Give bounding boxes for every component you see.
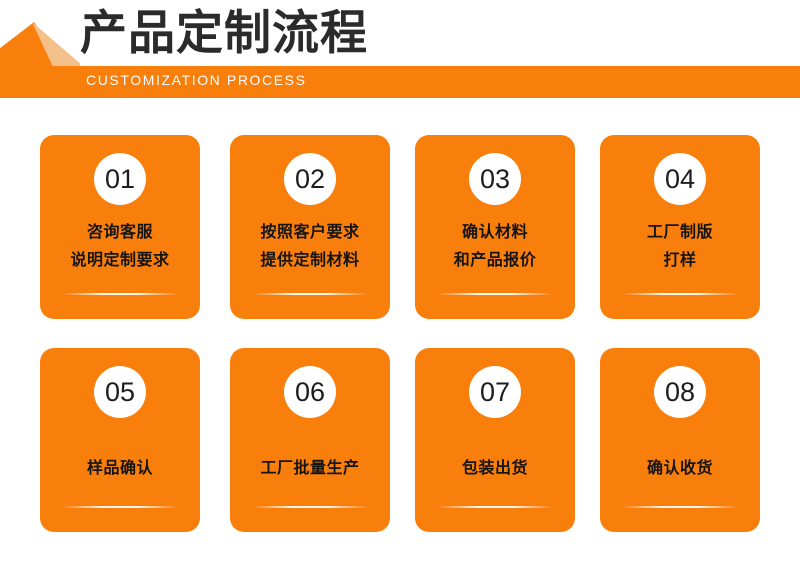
step-description: 按照客户要求 提供定制材料 xyxy=(230,219,390,275)
step-number-circle: 04 xyxy=(654,153,706,205)
step-description-line1: 样品确认 xyxy=(40,455,200,483)
step-divider xyxy=(437,506,553,508)
step-description-line2: 说明定制要求 xyxy=(40,247,200,275)
step-number-circle: 05 xyxy=(94,366,146,418)
step-description-line1: 工厂批量生产 xyxy=(230,455,390,483)
step-number: 04 xyxy=(665,166,695,193)
process-step-card: 06 工厂批量生产 xyxy=(230,348,390,532)
step-description-line1: 包装出货 xyxy=(415,455,575,483)
process-step-card: 05 样品确认 xyxy=(40,348,200,532)
step-description-line1: 确认材料 xyxy=(415,219,575,247)
process-step-card: 08 确认收货 xyxy=(600,348,760,532)
step-description-line1: 工厂制版 xyxy=(600,219,760,247)
step-number: 08 xyxy=(665,379,695,406)
step-divider xyxy=(252,506,368,508)
step-divider xyxy=(437,293,553,295)
step-description-line2: 和产品报价 xyxy=(415,247,575,275)
process-step-card: 02 按照客户要求 提供定制材料 xyxy=(230,135,390,319)
step-description: 确认收货 xyxy=(600,455,760,483)
process-step-card: 01 咨询客服 说明定制要求 xyxy=(40,135,200,319)
step-divider xyxy=(622,506,738,508)
step-number-circle: 07 xyxy=(469,366,521,418)
process-step-card: 07 包装出货 xyxy=(415,348,575,532)
step-number: 07 xyxy=(480,379,510,406)
step-description: 包装出货 xyxy=(415,455,575,483)
process-steps-row-top: 01 咨询客服 说明定制要求 02 按照客户要求 提供定制材料 03 确认材 xyxy=(0,135,800,319)
step-description-line2: 提供定制材料 xyxy=(230,247,390,275)
step-number: 06 xyxy=(295,379,325,406)
step-divider xyxy=(62,293,178,295)
step-divider xyxy=(622,293,738,295)
step-description: 咨询客服 说明定制要求 xyxy=(40,219,200,275)
step-number-circle: 03 xyxy=(469,153,521,205)
step-description-line2: 打样 xyxy=(600,247,760,275)
step-number-circle: 08 xyxy=(654,366,706,418)
process-step-card: 04 工厂制版 打样 xyxy=(600,135,760,319)
step-divider xyxy=(252,293,368,295)
page-subtitle: CUSTOMIZATION PROCESS xyxy=(86,72,307,88)
step-number: 02 xyxy=(295,166,325,193)
step-number: 03 xyxy=(480,166,510,193)
page-title: 产品定制流程 xyxy=(80,2,368,64)
process-step-card: 03 确认材料 和产品报价 xyxy=(415,135,575,319)
process-steps-grid: 01 咨询客服 说明定制要求 02 按照客户要求 提供定制材料 03 确认材 xyxy=(0,100,800,572)
step-description-line1: 咨询客服 xyxy=(40,219,200,247)
step-number: 01 xyxy=(105,166,135,193)
process-steps-row-bottom: 05 样品确认 06 工厂批量生产 07 包装出货 xyxy=(0,348,800,532)
step-number-circle: 01 xyxy=(94,153,146,205)
page-header: 产品定制流程 CUSTOMIZATION PROCESS xyxy=(0,0,800,100)
step-description-line1: 确认收货 xyxy=(600,455,760,483)
step-description: 确认材料 和产品报价 xyxy=(415,219,575,275)
step-description: 工厂批量生产 xyxy=(230,455,390,483)
step-description-line1: 按照客户要求 xyxy=(230,219,390,247)
step-number-circle: 06 xyxy=(284,366,336,418)
step-divider xyxy=(62,506,178,508)
step-number-circle: 02 xyxy=(284,153,336,205)
step-description: 工厂制版 打样 xyxy=(600,219,760,275)
step-number: 05 xyxy=(105,379,135,406)
step-description: 样品确认 xyxy=(40,455,200,483)
